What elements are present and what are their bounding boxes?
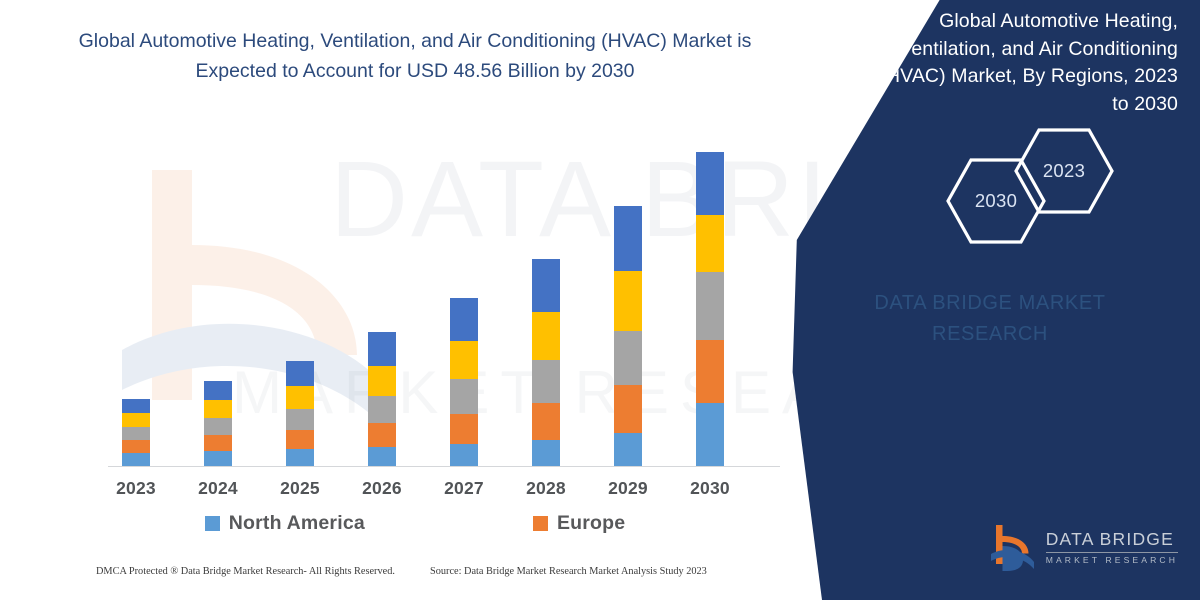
x-axis-label-2030: 2030	[670, 478, 750, 499]
bar-2028	[532, 259, 560, 466]
brand-logo-text: DATA BRIDGE MARKET RESEARCH	[1046, 531, 1178, 564]
bar-segment	[286, 449, 314, 466]
bar-segment	[696, 272, 724, 340]
bar-segment	[614, 271, 642, 331]
bar-segment	[286, 361, 314, 386]
side-panel-content: Global Automotive Heating, Ventilation, …	[780, 0, 1200, 600]
bar-segment	[614, 385, 642, 433]
brand-logo-line-1: DATA BRIDGE	[1046, 531, 1178, 549]
bar-2024	[204, 381, 232, 466]
brand-logo: DATA BRIDGE MARKET RESEARCH	[987, 522, 1178, 574]
stacked-bar-chart: Global Automotive Heating, Ventilation, …	[0, 0, 830, 600]
page-title: Global Automotive Heating, Ventilation, …	[0, 26, 830, 87]
bar-segment	[450, 298, 478, 341]
x-axis-label-2027: 2027	[424, 478, 504, 499]
bar-2030	[696, 152, 724, 466]
bar-2029	[614, 206, 642, 466]
bar-segment	[122, 399, 150, 413]
hexagon-2030-label: 2030	[975, 190, 1017, 212]
bar-segment	[368, 447, 396, 466]
side-panel: Global Automotive Heating, Ventilation, …	[780, 0, 1200, 600]
hexagon-group: 2023 2030	[884, 128, 1114, 243]
bar-segment	[204, 418, 232, 435]
bar-2026	[368, 332, 396, 466]
bar-segment	[122, 453, 150, 466]
bar-segment	[286, 430, 314, 449]
bar-segment	[532, 259, 560, 312]
bar-segment	[614, 433, 642, 466]
bar-segment	[122, 427, 150, 440]
legend-item-europe: Europe	[533, 512, 625, 535]
bar-segment	[696, 403, 724, 466]
legend-label-north-america: North America	[229, 512, 365, 535]
x-axis-label-2024: 2024	[178, 478, 258, 499]
bar-segment	[122, 440, 150, 453]
bar-segment	[450, 414, 478, 444]
footer: DMCA Protected ® Data Bridge Market Rese…	[0, 566, 830, 588]
bar-segment	[204, 400, 232, 418]
bar-segment	[532, 312, 560, 360]
legend-item-north-america: North America	[205, 512, 365, 535]
infographic-canvas: DATA BRIDGE MARKET RESEARCH Global Autom…	[0, 0, 1200, 600]
x-axis-label-2028: 2028	[506, 478, 586, 499]
bar-segment	[532, 360, 560, 403]
bar-segment	[532, 403, 560, 440]
x-axis-line	[108, 466, 780, 467]
footer-source: Source: Data Bridge Market Research Mark…	[430, 566, 707, 577]
bar-segment	[450, 379, 478, 414]
chart-panel: DATA BRIDGE MARKET RESEARCH Global Autom…	[0, 0, 830, 600]
legend-swatch-europe	[533, 516, 548, 531]
bar-segment	[368, 332, 396, 366]
x-axis-label-2026: 2026	[342, 478, 422, 499]
bar-segment	[696, 340, 724, 403]
bar-segment	[696, 215, 724, 272]
bar-segment	[614, 331, 642, 385]
x-axis-label-2029: 2029	[588, 478, 668, 499]
bar-segment	[696, 152, 724, 215]
chart-legend: North America Europe	[0, 512, 830, 535]
bar-segment	[368, 396, 396, 423]
bar-segment	[532, 440, 560, 466]
bar-segment	[286, 409, 314, 430]
brand-logo-mark	[987, 522, 1037, 574]
bar-segment	[204, 435, 232, 451]
side-panel-watermark: DATA BRIDGE MARKET RESEARCH	[780, 288, 1200, 350]
legend-label-europe: Europe	[557, 512, 625, 535]
bar-2027	[450, 298, 478, 466]
legend-swatch-north-america	[205, 516, 220, 531]
brand-logo-divider	[1046, 552, 1178, 553]
bar-2023	[122, 399, 150, 466]
bar-segment	[450, 341, 478, 379]
footer-copyright: DMCA Protected ® Data Bridge Market Rese…	[96, 566, 395, 577]
bar-segment	[122, 413, 150, 427]
x-axis-label-2025: 2025	[260, 478, 340, 499]
side-panel-title: Global Automotive Heating, Ventilation, …	[878, 8, 1178, 119]
bar-2025	[286, 361, 314, 466]
hexagon-2023-label: 2023	[1043, 160, 1085, 182]
bar-segment	[368, 366, 396, 396]
x-axis-label-2023: 2023	[96, 478, 176, 499]
bar-segment	[204, 451, 232, 466]
hexagon-2030: 2030	[946, 158, 1046, 244]
bar-segment	[368, 423, 396, 447]
brand-logo-line-2: MARKET RESEARCH	[1046, 556, 1178, 565]
bar-segment	[286, 386, 314, 409]
bar-segment	[204, 381, 232, 400]
bar-segment	[614, 206, 642, 271]
x-axis-labels: 20232024202520262027202820292030	[0, 478, 830, 508]
legend-spacer	[365, 512, 533, 535]
bar-segment	[450, 444, 478, 466]
